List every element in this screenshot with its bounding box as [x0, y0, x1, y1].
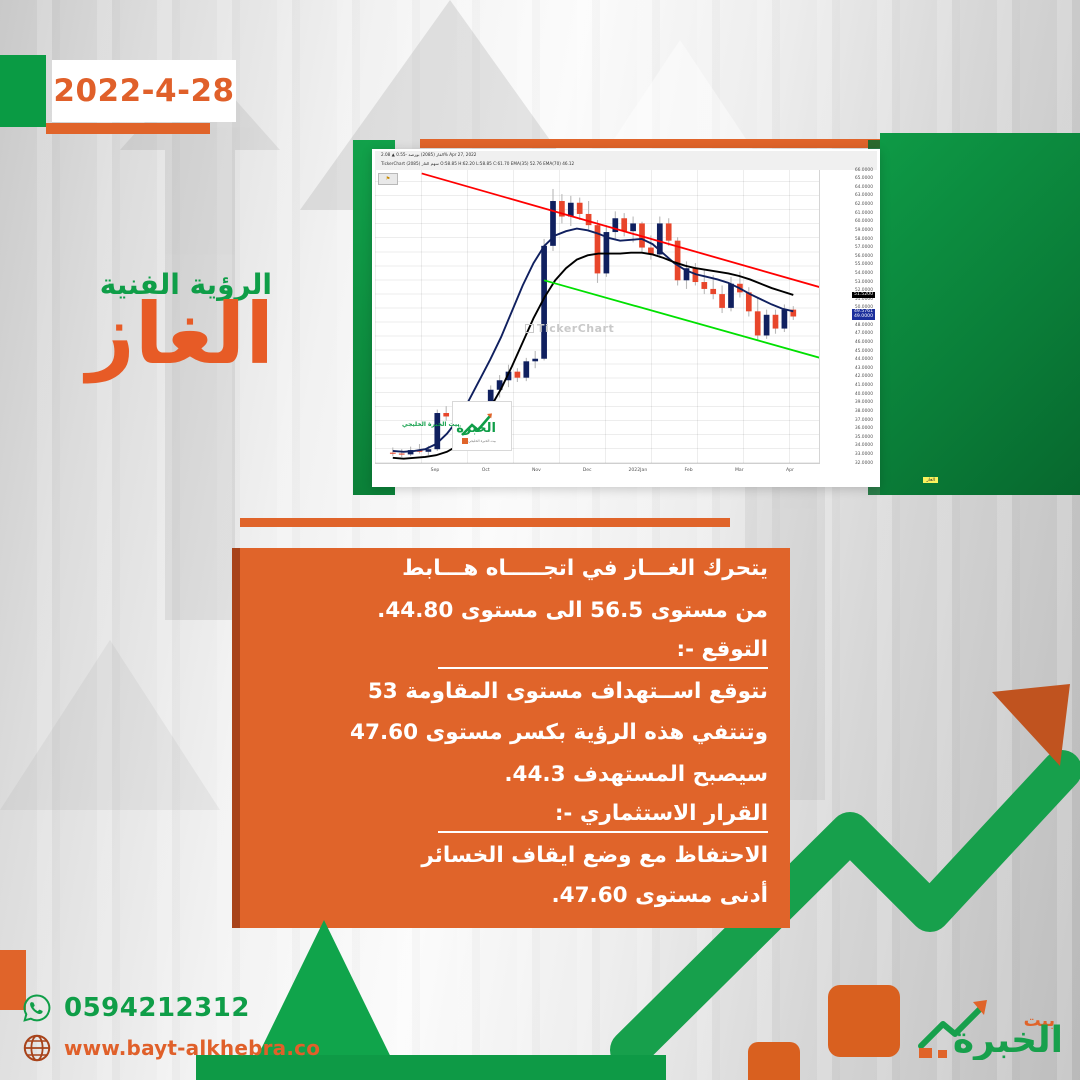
chart-y-tick: 32.0000 [855, 461, 873, 466]
chart-y-tick: 43.0000 [855, 366, 873, 371]
chart-y-tick: 41.0000 [855, 383, 873, 388]
chart-y-tick: 54.0000 [855, 271, 873, 276]
analysis-panel-edge [232, 548, 240, 928]
analysis-panel: يتحرك الغـــاز في اتجـــــاه هـــابطمن م… [240, 548, 790, 928]
chart-y-tick: 39.0000 [855, 400, 873, 405]
chart-y-tick: 57.0000 [855, 245, 873, 250]
chart-header-line-1: الغاز (2085) بورصة -0.55 ▲ 2.08% Apr 27,… [381, 152, 476, 157]
chart-header-line-2: TickerChart سهم الغاز (2085) O:58.85 H:6… [381, 161, 574, 166]
chart-x-badge: الغاز [923, 477, 938, 483]
date-accent-green [0, 55, 46, 127]
chart-y-tick: 35.0000 [855, 435, 873, 440]
page-title: الغاز [86, 292, 274, 376]
chart-right-green-panel [880, 133, 1080, 495]
chart-x-axis: SepOctNovDec2022JanFebMarApr [375, 463, 820, 484]
brand-logo: بيت الخبرة [905, 990, 1070, 1060]
chart-inner: الغاز (2085) بورصة -0.55 ▲ 2.08% Apr 27,… [372, 149, 880, 487]
chart-y-tick: 60.0000 [855, 219, 873, 224]
analysis-line: التوقع -: [677, 637, 768, 662]
brand-logo-icon: الخبرة بيت الخبرة الخليجي [456, 405, 508, 447]
chart-y-tick: 34.0000 [855, 443, 873, 448]
chart-y-tick: 36.0000 [855, 426, 873, 431]
chart-y-tick: 66.0000 [855, 168, 873, 173]
chart-x-tick: Nov [532, 468, 541, 473]
chart-top-orange-bar [420, 139, 890, 148]
whatsapp-icon [22, 993, 52, 1023]
date-badge: 2022-4-28 [52, 60, 236, 122]
chart-y-tick: 62.0000 [855, 202, 873, 207]
chart-y-tick: 37.0000 [855, 418, 873, 423]
chart-logo-caption: بيت الخبرة الخليجي [402, 421, 460, 428]
chart-y-axis: 66.000065.000064.000063.000062.000061.00… [819, 170, 877, 463]
website-url: www.bayt-alkhebra.co [64, 1036, 320, 1060]
chart-price-badge: 49.0000 [852, 314, 875, 320]
analysis-rule [438, 667, 768, 669]
chart-y-tick: 44.0000 [855, 357, 873, 362]
chart-y-tick: 45.0000 [855, 349, 873, 354]
chart-y-tick: 56.0000 [855, 254, 873, 259]
analysis-rule [438, 831, 768, 833]
analysis-line: الاحتفاظ مع وضع ايقاف الخسائر [421, 843, 768, 868]
chart-y-tick: 61.0000 [855, 211, 873, 216]
analysis-line: سيصبح المستهدف 44.3. [504, 762, 768, 787]
date-text: 2022-4-28 [53, 73, 234, 109]
chart-svg [375, 170, 820, 463]
chart-y-tick: 55.0000 [855, 262, 873, 267]
chart-y-tick: 42.0000 [855, 374, 873, 379]
analysis-line: نتوقع اســتهداف مستوى المقاومة 53 [368, 679, 768, 704]
website-contact[interactable]: www.bayt-alkhebra.co [22, 1033, 320, 1063]
analysis-line: أدنى مستوى 47.60. [551, 883, 768, 908]
date-underline [46, 123, 210, 134]
chart-x-tick: 2022Jan [628, 468, 647, 473]
whatsapp-contact[interactable]: 0594212312 [22, 993, 250, 1023]
chart-y-tick: 38.0000 [855, 409, 873, 414]
chart-watermark: TickerChart [525, 322, 614, 335]
chart-y-tick: 58.0000 [855, 237, 873, 242]
analysis-line: القرار الاستثماري -: [555, 801, 768, 826]
analysis-line: وتنتفي هذه الرؤية بكسر مستوى 47.60 [350, 720, 768, 745]
chart-y-tick: 40.0000 [855, 392, 873, 397]
watermark-box-icon [525, 324, 534, 333]
chart-x-tick: Sep [431, 468, 440, 473]
chart-container[interactable]: الغاز (2085) بورصة -0.55 ▲ 2.08% Apr 27,… [372, 149, 880, 487]
svg-text:الخبرة: الخبرة [456, 421, 496, 436]
svg-text:بيت الخبرة الخليجي: بيت الخبرة الخليجي [468, 439, 496, 443]
analysis-line: يتحرك الغـــاز في اتجـــــاه هـــابط [402, 556, 768, 581]
chart-flag-button[interactable]: ⚑ [378, 173, 398, 185]
chart-x-tick: Apr [786, 468, 794, 473]
chart-y-tick: 64.0000 [855, 185, 873, 190]
chart-y-tick: 47.0000 [855, 331, 873, 336]
poster-canvas: 2022-4-28 الرؤية الفنية الغاز الغاز (208… [0, 0, 1080, 1080]
analysis-top-divider [240, 518, 730, 527]
brand-word-main: الخبرة [953, 1020, 1063, 1060]
chart-header-bar: الغاز (2085) بورصة -0.55 ▲ 2.08% Apr 27,… [375, 151, 877, 171]
chart-x-tick: Mar [735, 468, 744, 473]
globe-icon [22, 1033, 52, 1063]
whatsapp-number: 0594212312 [64, 993, 250, 1023]
chart-y-tick: 46.0000 [855, 340, 873, 345]
chart-price-badge: 51.5200 [852, 292, 875, 298]
chart-plot-area: TickerChart [375, 170, 820, 463]
decorative-square-2 [748, 1042, 800, 1080]
chart-y-tick: 59.0000 [855, 228, 873, 233]
chart-x-tick: Oct [482, 468, 490, 473]
background-triangle-3 [0, 640, 220, 810]
chart-embedded-logo: الخبرة بيت الخبرة الخليجي [452, 401, 512, 451]
chart-x-tick: Dec [583, 468, 592, 473]
chart-y-tick: 33.0000 [855, 452, 873, 457]
chart-y-tick: 65.0000 [855, 176, 873, 181]
chart-x-tick: Feb [684, 468, 692, 473]
chart-y-tick: 63.0000 [855, 193, 873, 198]
chart-y-tick: 53.0000 [855, 280, 873, 285]
decorative-square-1 [828, 985, 900, 1057]
chart-y-tick: 48.0000 [855, 323, 873, 328]
analysis-line: من مستوى 56.5 الى مستوى 44.80. [377, 598, 768, 623]
watermark-text: TickerChart [537, 322, 614, 335]
